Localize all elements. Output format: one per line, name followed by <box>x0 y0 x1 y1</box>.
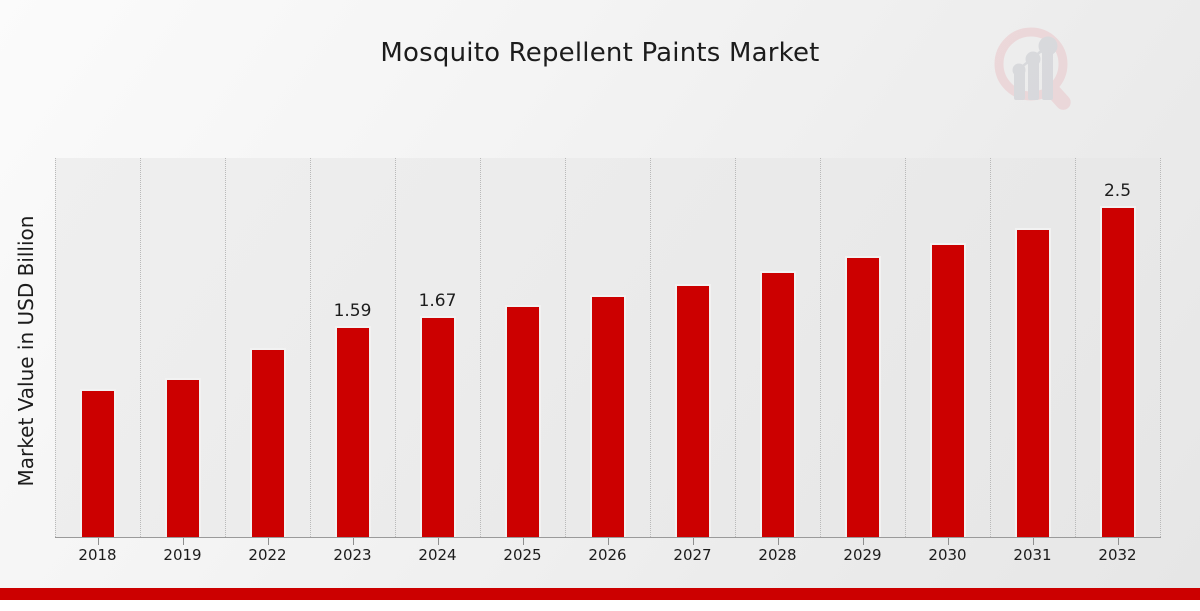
bar-2019[interactable] <box>165 378 201 537</box>
x-tick-mark <box>608 538 609 545</box>
x-tick-label-2030: 2030 <box>908 546 988 564</box>
x-tick-label-2029: 2029 <box>823 546 903 564</box>
bar-2032[interactable] <box>1100 206 1136 537</box>
x-tick-label-2019: 2019 <box>143 546 223 564</box>
gridline <box>565 158 566 537</box>
gridline <box>395 158 396 537</box>
gridline <box>820 158 821 537</box>
x-tick-label-2032: 2032 <box>1078 546 1158 564</box>
bar-2028[interactable] <box>760 271 796 537</box>
gridline <box>905 158 906 537</box>
x-tick-label-2027: 2027 <box>653 546 733 564</box>
bar-value-label-2024: 1.67 <box>393 291 483 311</box>
gridline <box>140 158 141 537</box>
gridline <box>650 158 651 537</box>
plot-area <box>55 158 1160 537</box>
gridline <box>225 158 226 537</box>
bar-2030[interactable] <box>930 243 966 537</box>
bar-2023[interactable] <box>335 326 371 537</box>
x-tick-label-2018: 2018 <box>58 546 138 564</box>
bar-2027[interactable] <box>675 284 711 537</box>
bar-value-label-2023: 1.59 <box>308 301 398 321</box>
gridline <box>480 158 481 537</box>
x-tick-label-2031: 2031 <box>993 546 1073 564</box>
gridline <box>310 158 311 537</box>
x-tick-mark <box>1033 538 1034 545</box>
gridline <box>1075 158 1076 537</box>
x-tick-label-2023: 2023 <box>313 546 393 564</box>
x-tick-mark <box>438 538 439 545</box>
bar-2024[interactable] <box>420 316 456 537</box>
x-tick-label-2025: 2025 <box>483 546 563 564</box>
bar-2022[interactable] <box>250 348 286 538</box>
x-tick-label-2028: 2028 <box>738 546 818 564</box>
gridline <box>735 158 736 537</box>
x-tick-mark <box>948 538 949 545</box>
bar-2026[interactable] <box>590 295 626 538</box>
bar-2018[interactable] <box>80 389 116 537</box>
bar-value-label-2032: 2.5 <box>1073 181 1163 201</box>
x-tick-mark <box>353 538 354 545</box>
y-axis-title: Market Value in USD Billion <box>14 91 38 611</box>
x-tick-mark <box>693 538 694 545</box>
x-tick-mark <box>98 538 99 545</box>
x-tick-mark <box>268 538 269 545</box>
gridline <box>55 158 56 537</box>
footer-band <box>0 588 1200 600</box>
bar-2031[interactable] <box>1015 228 1051 537</box>
x-tick-label-2026: 2026 <box>568 546 648 564</box>
gridline <box>1160 158 1161 537</box>
bar-2029[interactable] <box>845 256 881 537</box>
x-tick-mark <box>778 538 779 545</box>
x-tick-label-2022: 2022 <box>228 546 308 564</box>
x-tick-mark <box>863 538 864 545</box>
bar-2025[interactable] <box>505 305 541 537</box>
gridline <box>990 158 991 537</box>
chart-figure: Mosquito Repellent Paints Market Market … <box>0 0 1200 600</box>
x-tick-mark <box>523 538 524 545</box>
x-tick-mark <box>1118 538 1119 545</box>
magnifying-glass-bar-chart-logo-icon <box>988 22 1084 118</box>
x-tick-mark <box>183 538 184 545</box>
x-tick-label-2024: 2024 <box>398 546 478 564</box>
